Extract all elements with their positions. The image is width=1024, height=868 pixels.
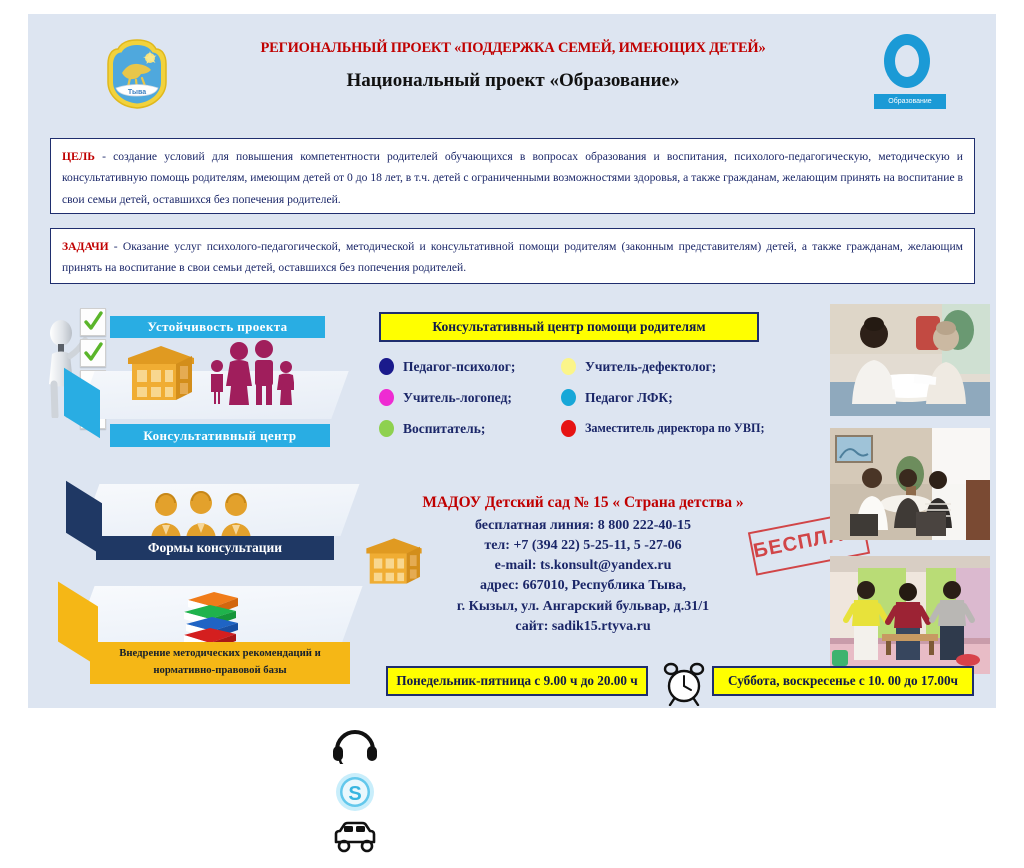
schedule-weekend: Суббота, воскресенье с 10. 00 до 17.00ч — [712, 666, 974, 696]
organization-name: МАДОУ Детский сад № 15 « Страна детства … — [373, 494, 793, 512]
specialist-row: Педагог-психолог; Учитель-дефектолог; — [373, 358, 828, 389]
contact-address-line1: адрес: 667010, Республика Тыва, — [373, 576, 793, 596]
tasks-keyword: ЗАДАЧИ — [62, 240, 109, 253]
consultation-method-icons: S — [328, 728, 388, 868]
logo-caption: Образование — [874, 94, 946, 109]
photo-gallery — [830, 296, 996, 696]
specialist-row: Учитель-логопед; Педагог ЛФК; — [373, 389, 828, 420]
specialist-item-4: Воспитатель; — [379, 420, 485, 437]
checkmark-icon-1 — [80, 308, 106, 336]
specialists-list: Педагог-психолог; Учитель-дефектолог; Уч… — [373, 358, 828, 451]
contacts-block: МАДОУ Детский сад № 15 « Страна детства … — [373, 494, 793, 637]
regional-project-title: РЕГИОНАЛЬНЫЙ ПРОЕКТ «ПОДДЕРЖКА СЕМЕЙ, ИМ… — [198, 40, 828, 57]
photo-group-meeting — [830, 428, 990, 540]
emblem-label: Тыва — [128, 89, 146, 96]
poster-header: Тыва РЕГИОНАЛЬНЫЙ ПРОЕКТ «ПОДДЕРЖКА СЕМЕ… — [28, 14, 996, 114]
goal-text: - создание условий для повышения компете… — [62, 150, 963, 206]
banner-consult-center: Консультативный центр — [110, 424, 330, 447]
checkmark-icon-2 — [80, 339, 106, 367]
specialist-item-1: Учитель-дефектолог; — [561, 358, 716, 375]
goal-keyword: ЦЕЛЬ — [62, 150, 95, 163]
specialist-color-dot — [561, 420, 576, 437]
specialist-color-dot — [379, 358, 394, 375]
specialist-label: Учитель-логопед; — [403, 390, 512, 406]
specialist-label: Педагог ЛФК; — [585, 390, 673, 406]
specialist-label: Воспитатель; — [403, 421, 485, 437]
banner-consultation-forms: Формы консультации — [96, 536, 334, 560]
center-column: Консультативный центр помощи родителям П… — [373, 296, 828, 708]
schedule-weekday: Понедельник-пятница с 9.00 ч до 20.00 ч — [386, 666, 648, 696]
photo-exercise-session — [830, 556, 990, 674]
specialist-color-dot — [379, 389, 394, 406]
building-icon — [124, 342, 198, 409]
schedule-bar: Понедельник-пятница с 9.00 ч до 20.00 ч … — [28, 658, 996, 708]
specialist-item-2: Учитель-логопед; — [379, 389, 512, 406]
specialist-row: Воспитатель; Заместитель директора по УВ… — [373, 420, 828, 451]
specialist-label: Заместитель директора по УВП; — [585, 421, 765, 436]
specialist-color-dot — [379, 420, 394, 437]
contact-email: e-mail: ts.konsult@yandex.ru — [373, 556, 793, 576]
banner-sustainability: Устойчивость проекта — [110, 316, 325, 338]
car-icon — [328, 820, 382, 854]
specialist-color-dot — [561, 389, 576, 406]
building-icon — [363, 534, 425, 593]
contact-website: сайт: sadik15.rtyva.ru — [373, 617, 793, 637]
specialist-label: Учитель-дефектолог; — [585, 359, 716, 375]
contact-address-line2: г. Кызыл, ул. Ангарский бульвар, д.31/1 — [373, 597, 793, 617]
left-infographic-column: Устойчивость проекта — [28, 296, 373, 696]
alarm-clock-icon — [662, 660, 706, 711]
national-project-title: Национальный проект «Образование» — [198, 70, 828, 92]
specialist-item-0: Педагог-психолог; — [379, 358, 515, 375]
photo-consultation-table — [830, 304, 990, 416]
national-project-logo: Образование — [862, 34, 958, 112]
contact-phone: тел: +7 (394 22) 5-25-11, 5 -27-06 — [373, 536, 793, 556]
specialist-label: Педагог-психолог; — [403, 359, 515, 375]
logo-ring-icon — [884, 34, 930, 88]
title-block: РЕГИОНАЛЬНЫЙ ПРОЕКТ «ПОДДЕРЖКА СЕМЕЙ, ИМ… — [198, 40, 828, 92]
family-icon — [206, 340, 294, 411]
skype-icon: S — [335, 772, 375, 812]
tasks-textbox: ЗАДАЧИ - Оказание услуг психолого-педаго… — [50, 228, 975, 284]
poster-canvas: Тыва РЕГИОНАЛЬНЫЙ ПРОЕКТ «ПОДДЕРЖКА СЕМЕ… — [28, 14, 996, 708]
svg-text:S: S — [348, 783, 361, 805]
contact-free-line: бесплатная линия: 8 800 222-40-15 — [373, 516, 793, 536]
tyva-coat-of-arms-icon: Тыва — [106, 38, 168, 110]
specialist-item-3: Педагог ЛФК; — [561, 389, 673, 406]
goal-textbox: ЦЕЛЬ - создание условий для повышения ко… — [50, 138, 975, 214]
tasks-text: - Оказание услуг психолого-педагогическо… — [62, 240, 963, 274]
specialist-item-5: Заместитель директора по УВП; — [561, 420, 765, 437]
consult-center-title: Консультативный центр помощи родителям — [379, 312, 759, 342]
specialist-color-dot — [561, 358, 576, 375]
headset-icon — [332, 728, 378, 764]
